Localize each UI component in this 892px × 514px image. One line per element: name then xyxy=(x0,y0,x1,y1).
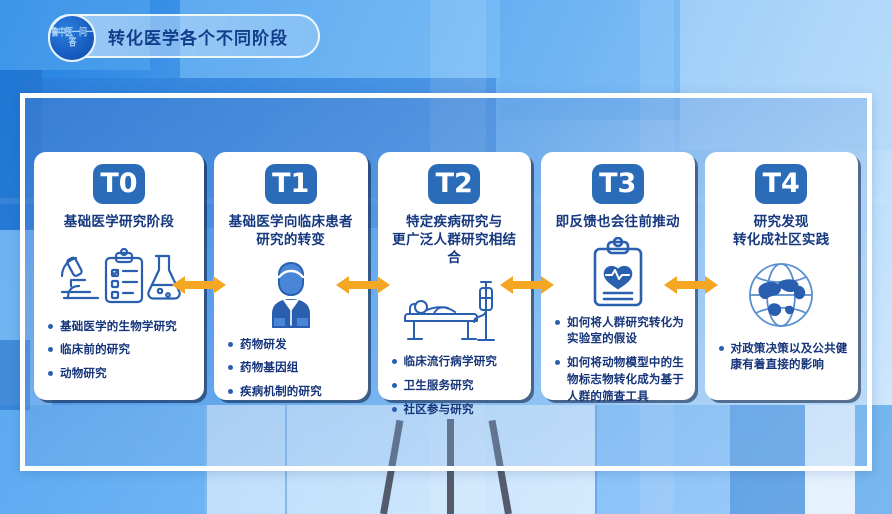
bullet-dot-icon xyxy=(228,365,233,370)
list-item: 疾病机制的研究 xyxy=(226,384,358,401)
stage-title-t1: 基础医学向临床患者 研究的转变 xyxy=(229,213,353,249)
bullet-dot-icon xyxy=(48,371,53,376)
bullet-dot-icon xyxy=(555,360,560,365)
list-item: 如何将人群研究转化为实验室的假设 xyxy=(553,315,685,348)
list-item: 药物基因组 xyxy=(226,360,358,377)
bullet-dot-icon xyxy=(228,389,233,394)
list-item: 卫生服务研究 xyxy=(390,378,522,395)
stage-card-list: T0 基础医学研究阶段 xyxy=(34,152,858,400)
bullet-dot-icon xyxy=(392,407,397,412)
stage-badge-t2: T2 xyxy=(428,164,480,204)
stage-card-t4[interactable]: T4 研究发现 转化成社区实践 对政策决策以及公共健康有着直接的影响 xyxy=(705,152,859,400)
bullet-dot-icon xyxy=(555,320,560,325)
stage-card-t3[interactable]: T3 即反馈也会往前推动 如何将人群研究转化为实验室的假设 如何将动物模型中的生… xyxy=(541,152,695,400)
clipboard-heartbeat-icon xyxy=(583,237,653,309)
list-item: 临床前的研究 xyxy=(46,342,194,359)
stage-card-t1[interactable]: T1 基础医学向临床患者 研究的转变 药物研发 药物基因组 疾病机制的研究 xyxy=(214,152,368,400)
stage-title-t4: 研究发现 转化成社区实践 xyxy=(733,213,830,249)
stage-badge-t4: T4 xyxy=(755,164,807,204)
stage-bullets-t3: 如何将人群研究转化为实验室的假设 如何将动物模型中的生物标志物转化成为基于人群的… xyxy=(551,315,685,412)
list-item: 基础医学的生物学研究 xyxy=(46,319,194,336)
bullet-dot-icon xyxy=(392,383,397,388)
stage-badge-t0: T0 xyxy=(93,164,145,204)
page-title: 转化医学各个不同阶段 xyxy=(108,24,288,49)
patient-bed-iv-icon xyxy=(394,272,514,348)
microscope-clipboard-flask-icon xyxy=(44,237,194,313)
list-item: 临床流行病学研究 xyxy=(390,354,522,371)
stage-bullets-t2: 临床流行病学研究 卫生服务研究 社区参与研究 xyxy=(388,354,522,425)
stage-title-t0: 基础医学研究阶段 xyxy=(64,213,174,231)
list-item: 对政策决策以及公共健康有着直接的影响 xyxy=(717,341,849,374)
bullet-dot-icon xyxy=(392,359,397,364)
stage-bullets-t4: 对政策决策以及公共健康有着直接的影响 xyxy=(715,341,849,381)
header-pill: 鲁中医一问一答 转化医学各个不同阶段 xyxy=(48,14,320,58)
bullet-dot-icon xyxy=(719,346,724,351)
brand-logo-text: 鲁中医一问一答 xyxy=(50,28,94,48)
bullet-dot-icon xyxy=(48,324,53,329)
stage-badge-t1: T1 xyxy=(265,164,317,204)
bullet-dot-icon xyxy=(48,347,53,352)
globe-icon xyxy=(741,255,821,335)
stage-bullets-t1: 药物研发 药物基因组 疾病机制的研究 xyxy=(224,337,358,408)
brand-logo-icon: 鲁中医一问一答 xyxy=(48,14,96,62)
stage-card-t0[interactable]: T0 基础医学研究阶段 xyxy=(34,152,204,400)
list-item: 动物研究 xyxy=(46,366,194,383)
stage-card-t2[interactable]: T2 特定疾病研究与 更广泛人群研究相结合 临床流行病学研究 xyxy=(378,152,532,400)
doctor-icon xyxy=(251,255,331,331)
stage-bullets-t0: 基础医学的生物学研究 临床前的研究 动物研究 xyxy=(44,319,194,390)
list-item: 社区参与研究 xyxy=(390,402,522,419)
list-item: 药物研发 xyxy=(226,337,358,354)
list-item: 如何将动物模型中的生物标志物转化成为基于人群的筛查工具 xyxy=(553,355,685,405)
stage-title-t3: 即反馈也会往前推动 xyxy=(556,213,680,231)
stage-title-t2: 特定疾病研究与 更广泛人群研究相结合 xyxy=(388,213,522,266)
bullet-dot-icon xyxy=(228,342,233,347)
stage-badge-t3: T3 xyxy=(592,164,644,204)
